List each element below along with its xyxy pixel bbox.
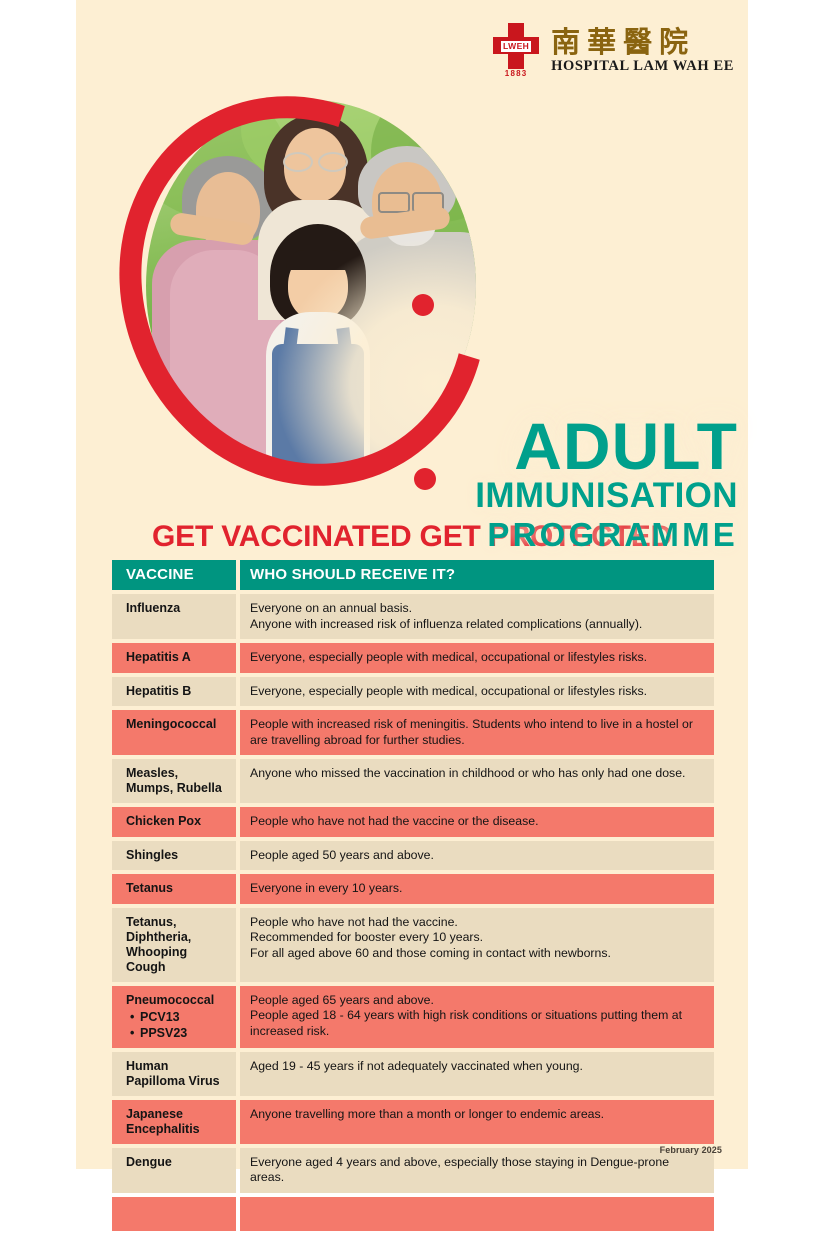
table-row: DengueEveryone aged 4 years and above, e…	[112, 1148, 714, 1193]
cell-who-should-receive: Everyone aged 4 years and above, especia…	[240, 1148, 714, 1193]
table-row: TetanusEveryone in every 10 years.	[112, 874, 714, 904]
headline-line-programme: PROGRAMME	[475, 516, 738, 554]
cell-who-should-receive: Everyone, especially people with medical…	[240, 677, 714, 707]
vaccine-name: Measles, Mumps, Rubella	[126, 766, 228, 796]
cell-vaccine-name: Measles, Mumps, Rubella	[112, 759, 236, 803]
who-text-line: For all aged above 60 and those coming i…	[250, 946, 704, 962]
cell-vaccine-name	[112, 1197, 236, 1231]
column-header-vaccine-label: VACCINE	[126, 566, 194, 583]
cell-vaccine-name: Shingles	[112, 841, 236, 871]
cell-who-should-receive: Everyone on an annual basis.Anyone with …	[240, 594, 714, 639]
poster-sheet: LWEH 1883 南華醫院 HOSPITAL LAM WAH EE	[76, 0, 748, 1169]
cell-vaccine-name: Hepatitis A	[112, 643, 236, 673]
vaccine-name: Japanese Encephalitis	[126, 1107, 228, 1137]
cell-vaccine-name: Influenza	[112, 594, 236, 639]
cell-who-should-receive	[240, 1197, 714, 1231]
cell-vaccine-name: Meningococcal	[112, 710, 236, 755]
column-header-who: WHO SHOULD RECEIVE IT?	[240, 560, 714, 590]
table-row: Japanese EncephalitisAnyone travelling m…	[112, 1100, 714, 1144]
cell-who-should-receive: Everyone in every 10 years.	[240, 874, 714, 904]
who-text-line: Recommended for booster every 10 years.	[250, 930, 704, 946]
vaccine-name: Hepatitis B	[126, 684, 228, 699]
cell-who-should-receive: Everyone, especially people with medical…	[240, 643, 714, 673]
who-text-line: Everyone, especially people with medical…	[250, 684, 704, 700]
cell-vaccine-name: Dengue	[112, 1148, 236, 1193]
headline-line-adult: ADULT	[475, 416, 738, 476]
who-text-line: People who have not had the vaccine or t…	[250, 814, 704, 830]
footer-date: February 2025	[660, 1145, 722, 1155]
table-row: ShinglesPeople aged 50 years and above.	[112, 841, 714, 871]
who-text-line: People with increased risk of meningitis…	[250, 717, 704, 748]
logo-initials: LWEH	[501, 41, 531, 51]
vaccine-name: Hepatitis A	[126, 650, 228, 665]
table-row: InfluenzaEveryone on an annual basis.Any…	[112, 594, 714, 639]
table-row: Chicken PoxPeople who have not had the v…	[112, 807, 714, 837]
vaccine-name: Dengue	[126, 1155, 228, 1170]
who-text-line: People aged 65 years and above.	[250, 993, 704, 1009]
vaccine-name: Tetanus	[126, 881, 228, 896]
vaccine-name: Human Papilloma Virus	[126, 1059, 228, 1089]
who-text-line: Everyone, especially people with medical…	[250, 650, 704, 666]
vaccine-name: Tetanus, Diphtheria, Whooping Cough	[126, 915, 228, 975]
ring-end-cap-top	[412, 294, 434, 316]
cell-who-should-receive: Anyone who missed the vaccination in chi…	[240, 759, 714, 803]
vaccine-subtype-item: PCV13	[140, 1009, 228, 1025]
cell-vaccine-name: Japanese Encephalitis	[112, 1100, 236, 1144]
table-row-empty	[112, 1197, 714, 1231]
column-header-vaccine: VACCINE	[112, 560, 236, 590]
who-text-line: Anyone with increased risk of influenza …	[250, 617, 704, 633]
who-text-line: Everyone in every 10 years.	[250, 881, 704, 897]
who-text-line: People aged 18 - 64 years with high risk…	[250, 1008, 704, 1039]
logo-year: 1883	[493, 69, 539, 78]
logo-wordmark: 南華醫院 HOSPITAL LAM WAH EE	[551, 26, 734, 75]
column-header-who-label: WHO SHOULD RECEIVE IT?	[250, 566, 455, 583]
hospital-name-english: HOSPITAL LAM WAH EE	[551, 58, 734, 75]
vaccine-subtype-list: PCV13PPSV23	[126, 1009, 228, 1041]
cell-who-should-receive: Anyone travelling more than a month or l…	[240, 1100, 714, 1144]
cell-who-should-receive: People aged 50 years and above.	[240, 841, 714, 871]
who-text-line: Anyone travelling more than a month or l…	[250, 1107, 704, 1123]
vaccine-name: Influenza	[126, 601, 228, 616]
cell-vaccine-name: Tetanus, Diphtheria, Whooping Cough	[112, 908, 236, 982]
cell-vaccine-name: PneumococcalPCV13PPSV23	[112, 986, 236, 1048]
cell-vaccine-name: Human Papilloma Virus	[112, 1052, 236, 1096]
who-text-line: Aged 19 - 45 years if not adequately vac…	[250, 1059, 704, 1075]
poster-headline: ADULT IMMUNISATION PROGRAMME	[475, 416, 738, 554]
table-body: InfluenzaEveryone on an annual basis.Any…	[112, 594, 714, 1231]
hero-section: ADULT IMMUNISATION PROGRAMME	[76, 86, 748, 516]
table-row: Hepatitis AEveryone, especially people w…	[112, 643, 714, 673]
table-row: PneumococcalPCV13PPSV23People aged 65 ye…	[112, 986, 714, 1048]
vaccine-table: VACCINE WHO SHOULD RECEIVE IT? Influenza…	[112, 560, 714, 1235]
who-text-line: Everyone aged 4 years and above, especia…	[250, 1155, 704, 1186]
red-cross-logo-icon: LWEH 1883	[493, 23, 539, 77]
vaccine-name: Shingles	[126, 848, 228, 863]
cell-who-should-receive: People with increased risk of meningitis…	[240, 710, 714, 755]
table-row: MeningococcalPeople with increased risk …	[112, 710, 714, 755]
vaccine-name: Meningococcal	[126, 717, 228, 732]
cell-vaccine-name: Hepatitis B	[112, 677, 236, 707]
logo-initials-box: LWEH	[500, 40, 532, 53]
vaccine-name: Pneumococcal	[126, 993, 228, 1008]
table-row: Human Papilloma VirusAged 19 - 45 years …	[112, 1052, 714, 1096]
cell-who-should-receive: People who have not had the vaccine or t…	[240, 807, 714, 837]
hospital-logo: LWEH 1883 南華醫院 HOSPITAL LAM WAH EE	[493, 22, 734, 78]
table-row: Tetanus, Diphtheria, Whooping CoughPeopl…	[112, 908, 714, 982]
cell-vaccine-name: Chicken Pox	[112, 807, 236, 837]
headline-line-immunisation: IMMUNISATION	[475, 476, 738, 516]
who-text-line: People who have not had the vaccine.	[250, 915, 704, 931]
vaccine-name: Chicken Pox	[126, 814, 228, 829]
who-text-line: Everyone on an annual basis.	[250, 601, 704, 617]
table-header-row: VACCINE WHO SHOULD RECEIVE IT?	[112, 560, 714, 590]
cell-vaccine-name: Tetanus	[112, 874, 236, 904]
table-row: Hepatitis BEveryone, especially people w…	[112, 677, 714, 707]
cell-who-should-receive: Aged 19 - 45 years if not adequately vac…	[240, 1052, 714, 1096]
ring-end-cap-bottom	[414, 468, 436, 490]
who-text-line: People aged 50 years and above.	[250, 848, 704, 864]
table-row: Measles, Mumps, RubellaAnyone who missed…	[112, 759, 714, 803]
cell-who-should-receive: People aged 65 years and above.People ag…	[240, 986, 714, 1048]
who-text-line: Anyone who missed the vaccination in chi…	[250, 766, 704, 782]
cell-who-should-receive: People who have not had the vaccine.Reco…	[240, 908, 714, 982]
hospital-name-chinese: 南華醫院	[551, 26, 734, 58]
vaccine-subtype-item: PPSV23	[140, 1025, 228, 1041]
